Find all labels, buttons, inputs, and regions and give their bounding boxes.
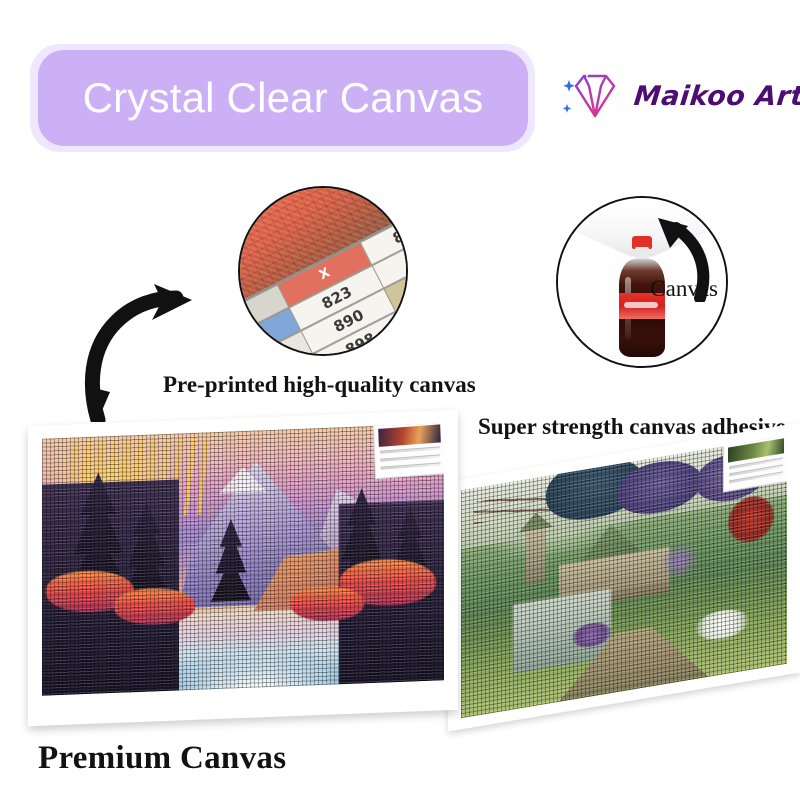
page-title: Crystal Clear Canvas xyxy=(83,74,484,122)
legend-row xyxy=(380,454,440,461)
cottage-flowers xyxy=(696,606,748,642)
printed-canvas-detail: U X 817 C 823 825 S 890 + S 898 xyxy=(238,186,408,356)
caption-premium-canvas: Premium Canvas xyxy=(38,740,286,777)
canvas-cottage-garden xyxy=(448,423,800,732)
color-legend-card xyxy=(373,423,444,479)
callout-circle-pre-printed: U X 817 C 823 825 S 890 + S 898 xyxy=(238,186,408,356)
callout-circle-adhesive: Canvas xyxy=(556,196,728,368)
canvas-inline-label: Canvas xyxy=(650,276,718,302)
mountain-waterfall-foam xyxy=(155,640,356,691)
adhesive-demo-scene: Canvas xyxy=(558,198,726,366)
brand-name: Maikoo Art xyxy=(632,81,800,112)
legend-row xyxy=(381,462,441,469)
diamond-icon xyxy=(556,60,628,132)
legend-row xyxy=(380,446,440,453)
product-feature-page: Crystal Clear Canvas xyxy=(0,0,800,800)
legend-thumbnail xyxy=(378,424,441,447)
canvas-mountain-sunset xyxy=(28,410,458,727)
header-banner: Crystal Clear Canvas xyxy=(38,50,528,146)
mountain-sunset-artwork xyxy=(42,423,444,695)
caption-pre-printed: Pre-printed high-quality canvas xyxy=(163,372,476,398)
brand-logo: Maikoo Art xyxy=(556,58,784,134)
curved-arrow-icon xyxy=(76,282,196,422)
cottage-tower xyxy=(526,526,546,584)
cottage-garden-artwork xyxy=(461,436,787,719)
